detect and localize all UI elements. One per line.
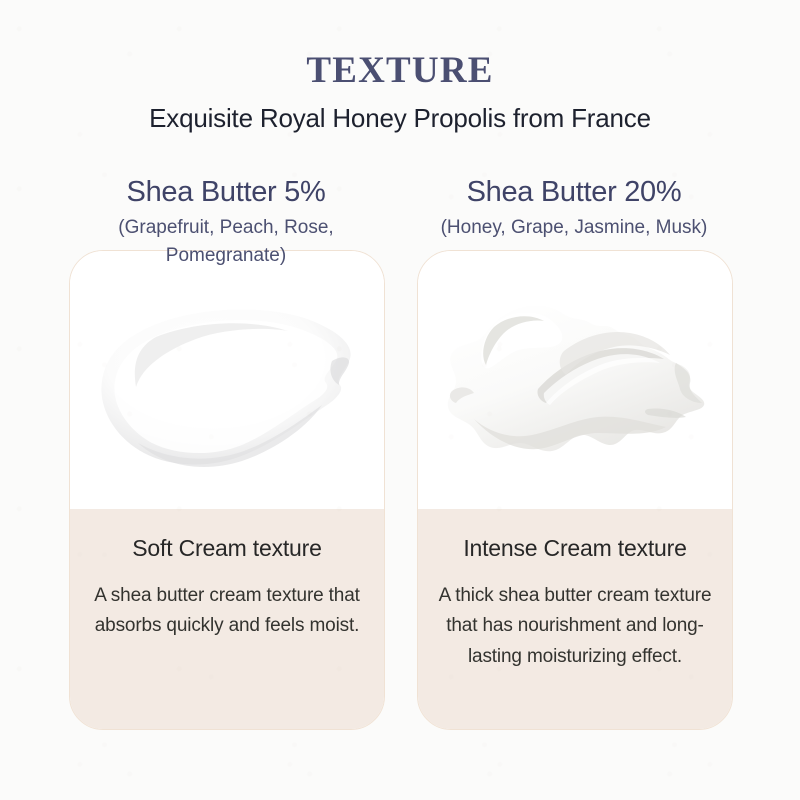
- card-title-intense-cream: Intense Cream texture: [418, 535, 732, 563]
- texture-card-shea-butter-5: Soft Cream texture A shea butter cream t…: [69, 250, 385, 730]
- column-notes-shea-butter-20: (Honey, Grape, Jasmine, Musk): [417, 209, 731, 242]
- texture-column-shea-butter-20: Intense Cream texture A thick shea butte…: [417, 176, 731, 269]
- intense-cream-swatch: [434, 293, 716, 489]
- column-heading-shea-butter-20: Shea Butter 20%: [417, 176, 731, 209]
- soft-cream-swatch: [92, 303, 362, 483]
- column-notes-shea-butter-5: (Grapefruit, Peach, Rose, Pomegranate): [69, 209, 383, 269]
- card-description-area: Intense Cream texture A thick shea butte…: [418, 509, 732, 729]
- card-description-intense-cream: A thick shea butter cream texture that h…: [418, 563, 732, 673]
- texture-comparison-columns: Soft Cream texture A shea butter cream t…: [0, 176, 800, 269]
- card-description-area: Soft Cream texture A shea butter cream t…: [70, 509, 384, 729]
- texture-column-shea-butter-5: Soft Cream texture A shea butter cream t…: [69, 176, 383, 269]
- texture-card-shea-butter-20: Intense Cream texture A thick shea butte…: [417, 250, 733, 730]
- column-heading-shea-butter-5: Shea Butter 5%: [69, 176, 383, 209]
- card-title-soft-cream: Soft Cream texture: [70, 535, 384, 563]
- page-subtitle: Exquisite Royal Honey Propolis from Fran…: [0, 89, 800, 131]
- card-swatch-area: [418, 251, 732, 509]
- page-title: TEXTURE: [0, 0, 800, 89]
- page-header: TEXTURE Exquisite Royal Honey Propolis f…: [0, 0, 800, 131]
- card-description-soft-cream: A shea butter cream texture that absorbs…: [70, 563, 384, 643]
- card-swatch-area: [70, 251, 384, 509]
